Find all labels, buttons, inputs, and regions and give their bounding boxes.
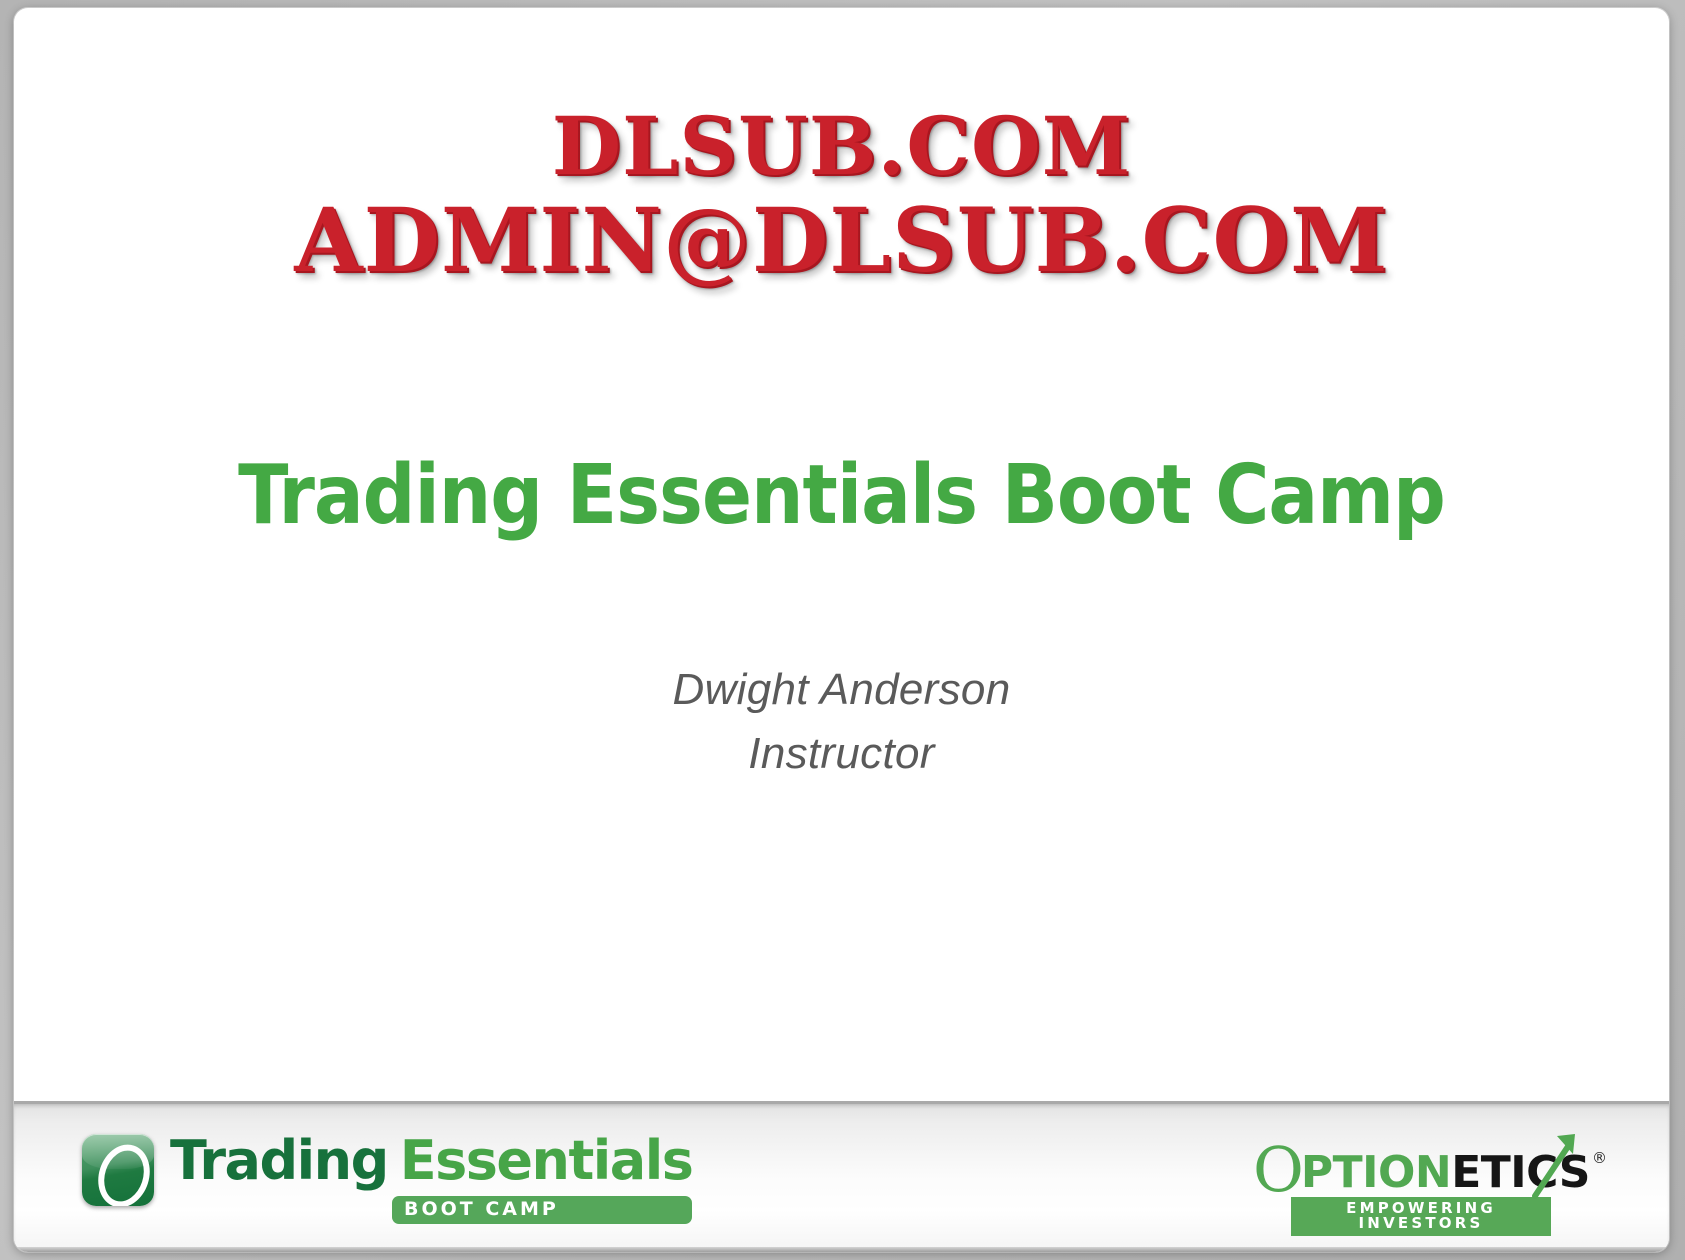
watermark-line-site: DLSUB.COM (14, 106, 1669, 186)
boot-camp-badge: BOOT CAMP (392, 1196, 692, 1224)
trading-essentials-wordmark: Trading Essentials BOOT CAMP (170, 1134, 692, 1224)
optionetics-word-option: PTION (1301, 1151, 1451, 1195)
slide-footer-bar: Trading Essentials BOOT CAMP O PTION ETI… (14, 1101, 1669, 1252)
slide-canvas: DLSUB.COM ADMIN@DLSUB.COM Trading Essent… (14, 8, 1669, 1252)
wordmark-word-essentials: Essentials (400, 1134, 693, 1188)
optionetics-logo: O PTION ETICS ® EMPOWERING INVESTORS (1253, 1138, 1573, 1236)
optionetics-initial-o: O (1253, 1142, 1301, 1198)
presenter-role: Instructor (14, 722, 1669, 786)
slide-title: Trading Essentials Boot Camp (14, 453, 1669, 539)
optionetics-wordmark: O PTION ETICS ® (1253, 1138, 1573, 1195)
presentation-slide-root: DLSUB.COM ADMIN@DLSUB.COM Trading Essent… (0, 0, 1685, 1260)
wordmark-word-trading: Trading (170, 1134, 388, 1188)
up-right-arrow-icon (1531, 1128, 1579, 1200)
trading-essentials-logo: Trading Essentials BOOT CAMP (82, 1134, 692, 1224)
registered-trademark-mark: ® (1592, 1151, 1607, 1166)
oval-o-icon (82, 1134, 154, 1206)
watermark-line-email: ADMIN@DLSUB.COM (14, 196, 1669, 284)
wordmark-row: Trading Essentials (170, 1134, 692, 1188)
presenter-name: Dwight Anderson (14, 658, 1669, 722)
watermark-overlay: DLSUB.COM ADMIN@DLSUB.COM (14, 106, 1669, 284)
slide-subtitle: Dwight Anderson Instructor (14, 658, 1669, 786)
optionetics-tagline: EMPOWERING INVESTORS (1291, 1197, 1551, 1236)
